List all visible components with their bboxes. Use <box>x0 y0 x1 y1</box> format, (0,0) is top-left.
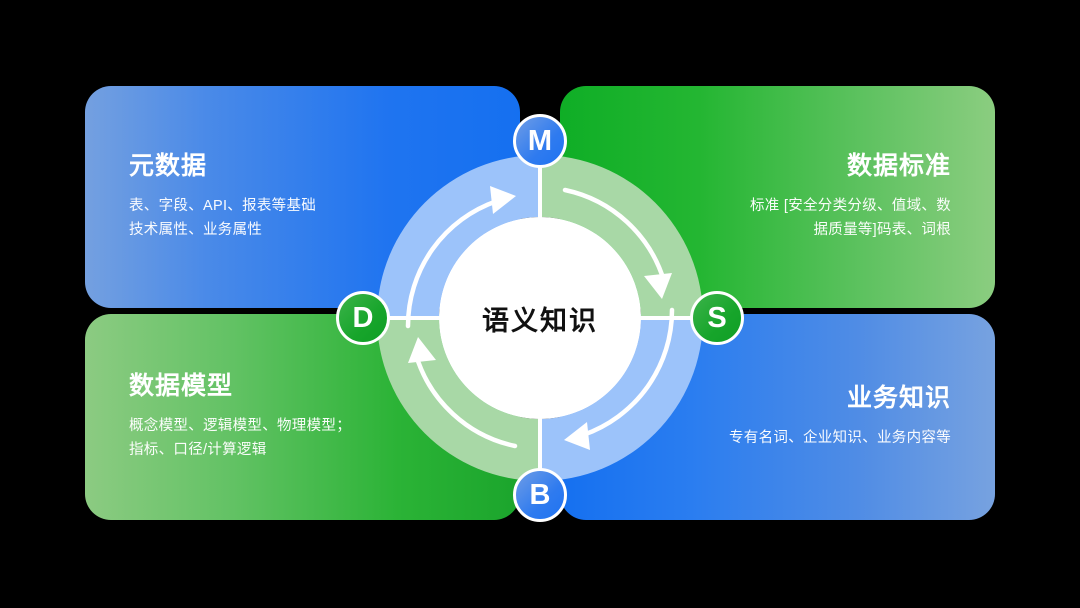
panel-business-knowledge-description: 专有名词、企业知识、业务内容等 <box>729 427 951 451</box>
ring-inner-disc <box>439 217 641 419</box>
panel-data-standard-description: 标准 [安全分类分级、值域、数 据质量等]码表、词根 <box>750 195 951 243</box>
panel-business-knowledge-title: 业务知识 <box>847 383 951 413</box>
badge-model-d[interactable]: D <box>336 291 390 345</box>
panel-data-standard-title: 数据标准 <box>847 151 951 181</box>
badge-metadata-m[interactable]: M <box>513 114 567 168</box>
diagram-canvas: 元数据 表、字段、API、报表等基础 技术属性、业务属性 数据标准 标准 [安全… <box>0 0 1080 608</box>
badge-standard-s[interactable]: S <box>690 291 744 345</box>
badge-business-b[interactable]: B <box>513 468 567 522</box>
center-cycle-diagram: 语义知识 M S B D <box>350 128 730 508</box>
ring-graphic <box>350 128 730 508</box>
